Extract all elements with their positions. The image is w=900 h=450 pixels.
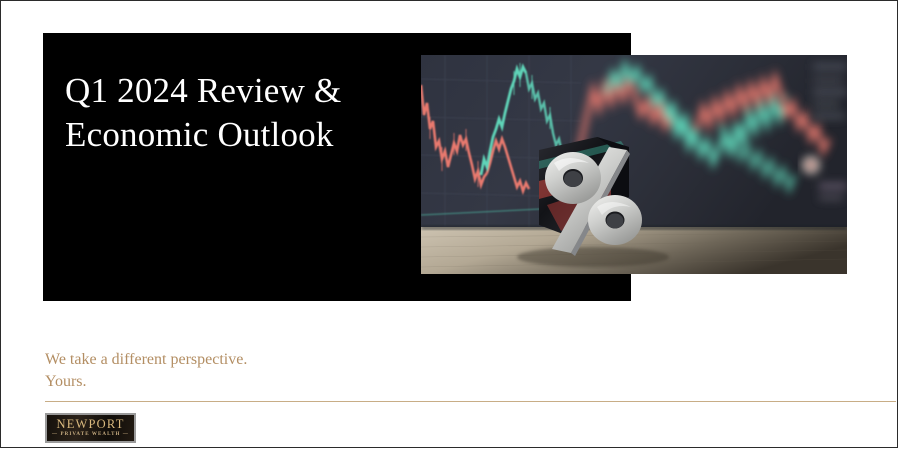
- logo-tagline: — PRIVATE WEALTH —: [52, 431, 129, 439]
- newport-private-wealth-logo: NEWPORT — PRIVATE WEALTH —: [45, 413, 136, 443]
- slide-canvas: Q1 2024 Review & Economic Outlook: [0, 0, 898, 448]
- tagline: We take a different perspective. Yours.: [45, 349, 247, 393]
- percent-sign-chart-photo: [421, 55, 847, 274]
- divider-rule: [45, 401, 896, 402]
- hero-photo: [421, 55, 847, 274]
- page-title: Q1 2024 Review & Economic Outlook: [65, 69, 425, 157]
- logo-wordmark: NEWPORT: [56, 418, 124, 431]
